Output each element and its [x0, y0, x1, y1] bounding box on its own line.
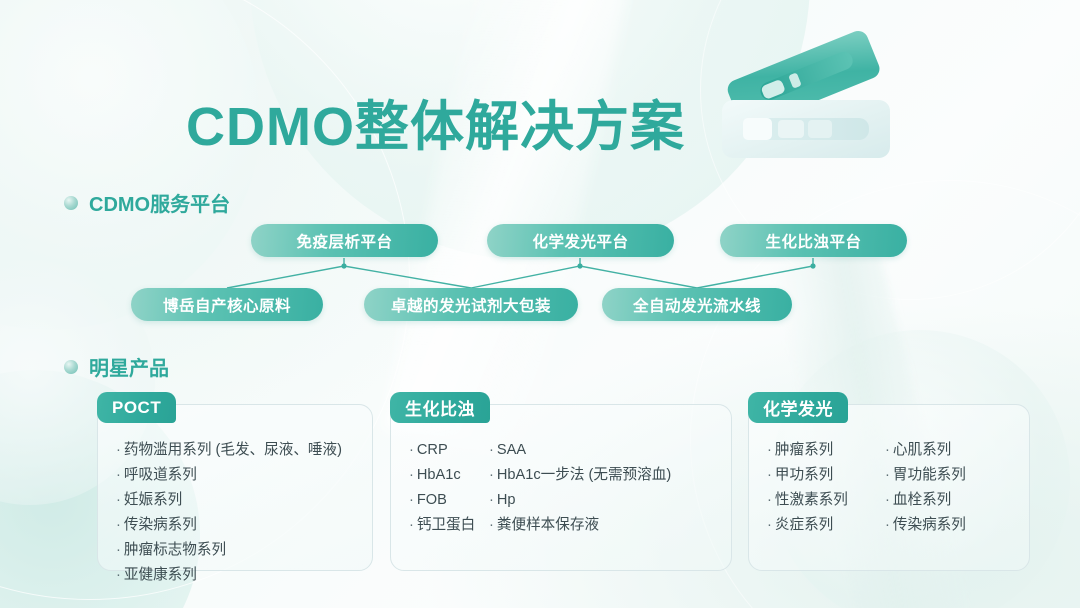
capability-pill-bulk-reagent[interactable]: 卓越的发光试剂大包装	[364, 288, 578, 321]
capability-pill-raw-materials[interactable]: 博岳自产核心原料	[131, 288, 323, 321]
platform-pill-immunochromatography[interactable]: 免疫层析平台	[251, 224, 438, 257]
capability-pill-automated-line[interactable]: 全自动发光流水线	[602, 288, 792, 321]
platform-pill-biochemical-turbidimetry[interactable]: 生化比浊平台	[720, 224, 907, 257]
platform-pill-chemiluminescence[interactable]: 化学发光平台	[487, 224, 674, 257]
